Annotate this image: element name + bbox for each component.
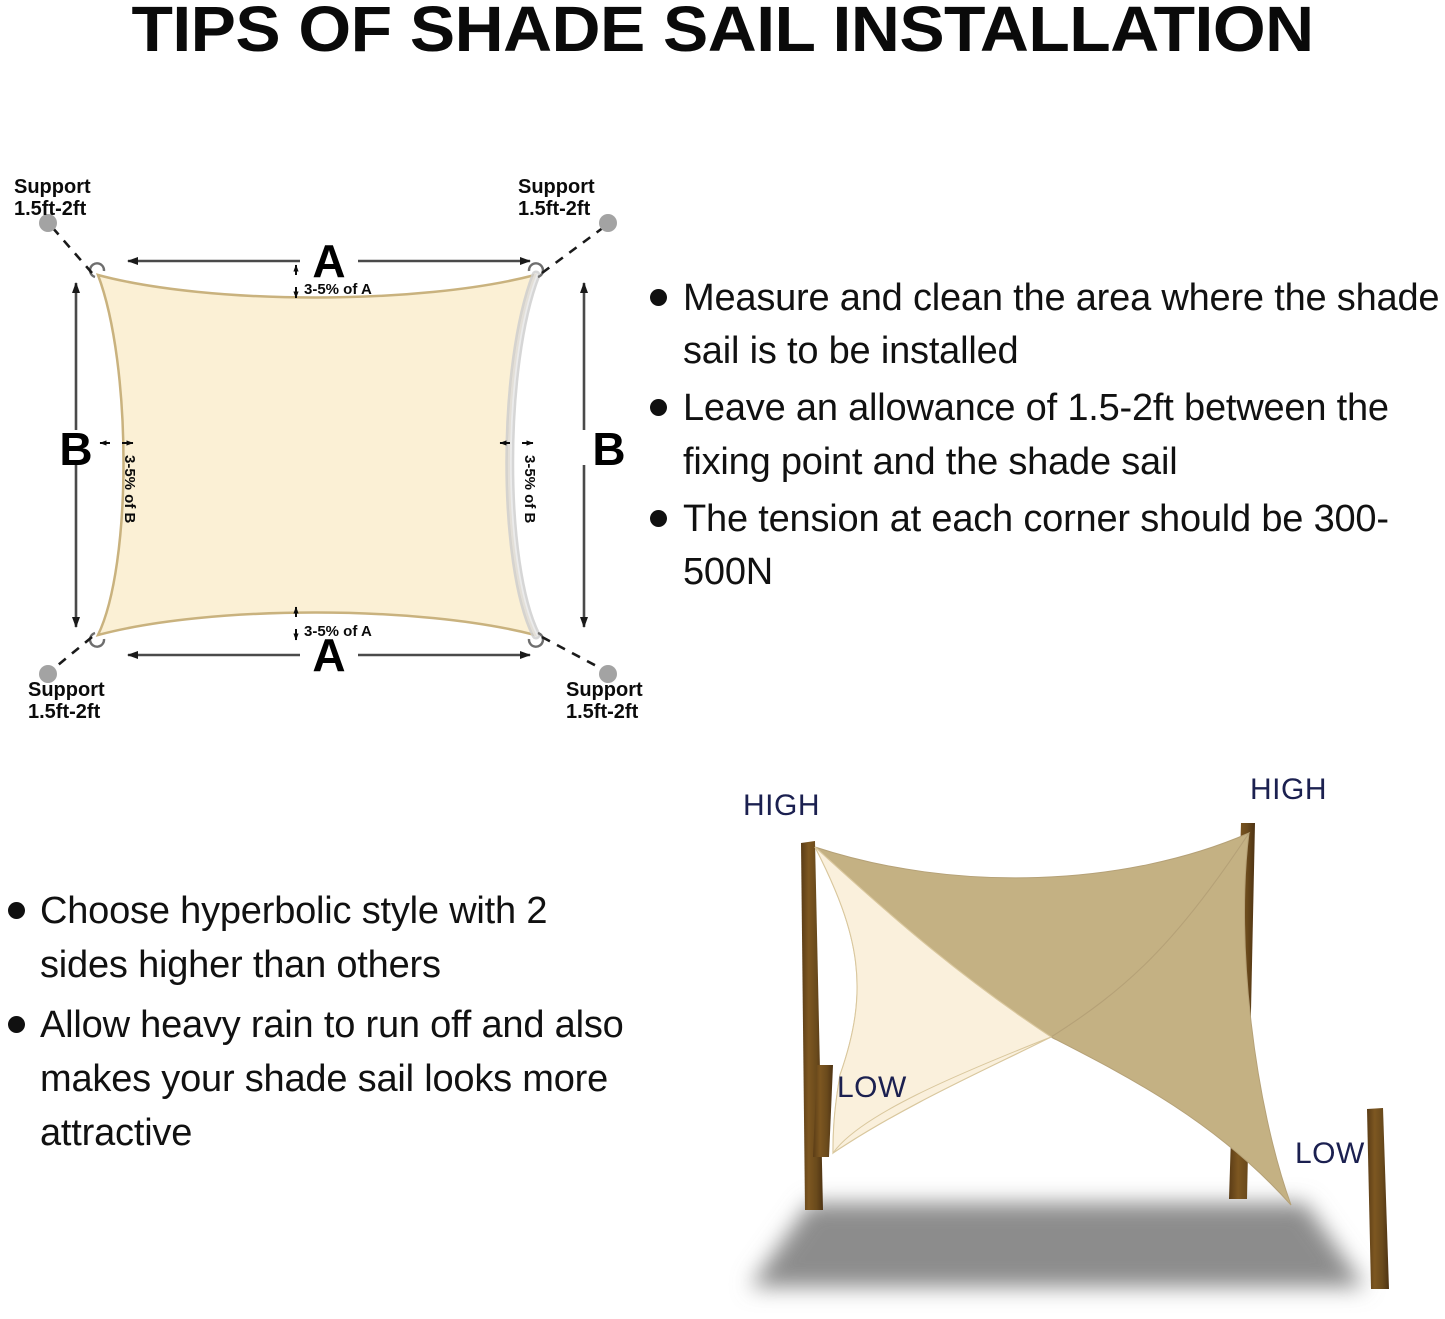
support-label-line2: 1.5ft-2ft	[566, 701, 639, 723]
curve-label-left: 3-5% of B	[121, 455, 138, 524]
rectangular-sail-diagram: A A B B 3-5% of A 3-5% of A 3-5% of B 3-…	[0, 165, 660, 725]
sail-shape	[98, 275, 535, 635]
ground-shadow	[750, 1203, 1365, 1287]
list-item-text: Choose hyperbolic style with 2 sides hig…	[40, 885, 628, 993]
support-label-bottom-right: Support 1.5ft-2ft	[566, 679, 643, 723]
support-label-line2: 1.5ft-2ft	[14, 198, 87, 220]
label-high-right: HIGH	[1250, 773, 1327, 806]
label-low-left: LOW	[837, 1071, 907, 1104]
hyperbolic-sail-diagram: HIGH HIGH LOW LOW	[655, 775, 1445, 1319]
curve-label-bottom: 3-5% of A	[304, 623, 372, 640]
bullet-dot-icon	[8, 902, 25, 919]
list-item: Choose hyperbolic style with 2 sides hig…	[8, 885, 628, 993]
anchor-dot	[599, 214, 617, 232]
list-item: Allow heavy rain to run off and also mak…	[8, 999, 628, 1161]
support-label-line1: Support	[518, 176, 595, 198]
page-title: TIPS OF SHADE SAIL INSTALLATION	[0, 0, 1445, 63]
tips-list-left: Choose hyperbolic style with 2 sides hig…	[8, 885, 628, 1167]
bullet-dot-icon	[8, 1016, 25, 1033]
list-item: The tension at each corner should be 300…	[650, 493, 1445, 599]
support-post-front-right	[1367, 1108, 1389, 1289]
support-label-top-right: Support 1.5ft-2ft	[518, 176, 595, 220]
support-label-line2: 1.5ft-2ft	[28, 701, 101, 723]
support-label-line2: 1.5ft-2ft	[518, 198, 591, 220]
curve-callout-left: 3-5% of B	[100, 443, 138, 524]
curve-label-right: 3-5% of B	[521, 455, 538, 524]
bullet-dot-icon	[650, 510, 667, 527]
support-label-top-left: Support 1.5ft-2ft	[14, 176, 91, 220]
dimension-letter-b-left: B	[59, 423, 92, 475]
list-item-text: Measure and clean the area where the sha…	[683, 272, 1445, 378]
bullet-dot-icon	[650, 399, 667, 416]
list-item-text: Allow heavy rain to run off and also mak…	[40, 999, 628, 1161]
list-item-text: Leave an allowance of 1.5-2ft between th…	[683, 382, 1445, 488]
tips-list-right: Measure and clean the area where the sha…	[650, 272, 1445, 603]
list-item-text: The tension at each corner should be 300…	[683, 493, 1445, 599]
list-item: Measure and clean the area where the sha…	[650, 272, 1445, 378]
list-item: Leave an allowance of 1.5-2ft between th…	[650, 382, 1445, 488]
dimension-letter-a-top: A	[312, 235, 345, 287]
bullet-dot-icon	[650, 289, 667, 306]
curve-label-top: 3-5% of A	[304, 281, 372, 298]
label-high-left: HIGH	[743, 789, 820, 822]
support-label-bottom-left: Support 1.5ft-2ft	[28, 679, 105, 723]
support-label-line1: Support	[566, 679, 643, 701]
support-label-line1: Support	[28, 679, 105, 701]
label-low-right: LOW	[1295, 1137, 1365, 1170]
support-label-line1: Support	[14, 176, 91, 198]
dimension-letter-b-right: B	[592, 423, 625, 475]
